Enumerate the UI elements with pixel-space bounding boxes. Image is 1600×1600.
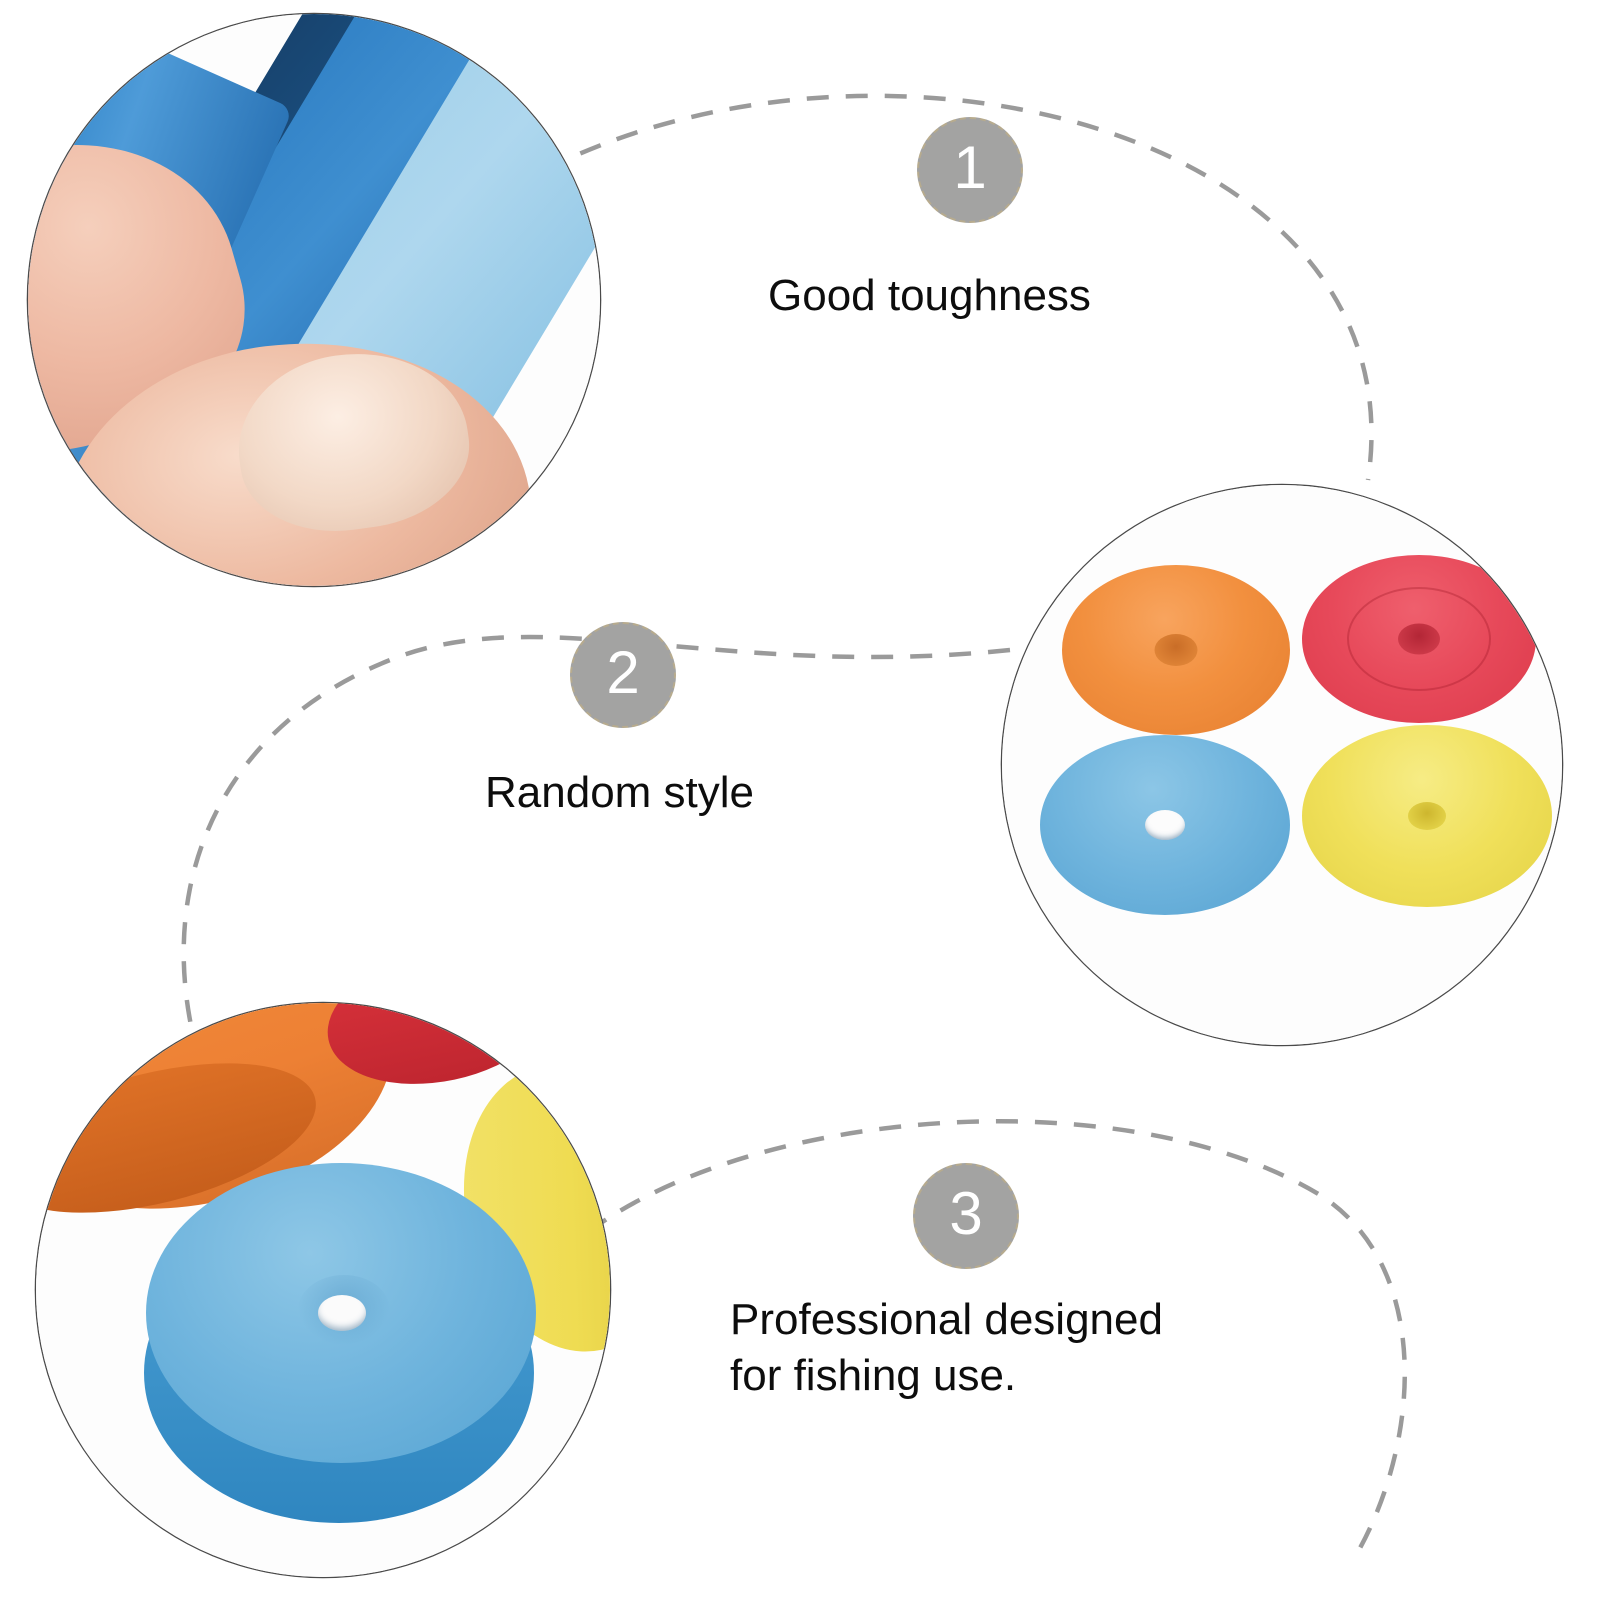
spool-orange-hole bbox=[1155, 634, 1198, 666]
step-badge-2-number: 2 bbox=[606, 643, 639, 703]
photo-foam-flex-image bbox=[28, 14, 600, 586]
photo-foam-flex bbox=[28, 14, 600, 586]
step-badge-1-number: 1 bbox=[953, 138, 986, 198]
spool-yellow bbox=[1302, 725, 1552, 907]
step-badge-3[interactable]: 3 bbox=[913, 1163, 1019, 1269]
photo-blue-spool-image bbox=[36, 1003, 610, 1577]
step-caption-3: Professional designed for fishing use. bbox=[730, 1292, 1290, 1405]
closeup-spool-blue-hole bbox=[318, 1295, 366, 1331]
spool-pink bbox=[1302, 555, 1536, 723]
photo-four-spools-image bbox=[1002, 485, 1562, 1045]
spool-blue bbox=[1040, 735, 1290, 915]
step-badge-3-number: 3 bbox=[949, 1184, 982, 1244]
step-badge-2[interactable]: 2 bbox=[570, 622, 676, 728]
step-badge-1[interactable]: 1 bbox=[917, 117, 1023, 223]
step-caption-2: Random style bbox=[485, 765, 965, 821]
spool-yellow-hole bbox=[1408, 802, 1446, 830]
spool-orange bbox=[1062, 565, 1290, 735]
infographic-canvas: 1 Good toughness 2 Random style 3 Profes… bbox=[0, 0, 1600, 1600]
photo-blue-spool-closeup bbox=[36, 1003, 610, 1577]
spool-blue-hole bbox=[1145, 810, 1185, 840]
photo-four-spools bbox=[1002, 485, 1562, 1045]
step-caption-1: Good toughness bbox=[768, 268, 1288, 324]
spool-pink-hole bbox=[1398, 624, 1440, 655]
